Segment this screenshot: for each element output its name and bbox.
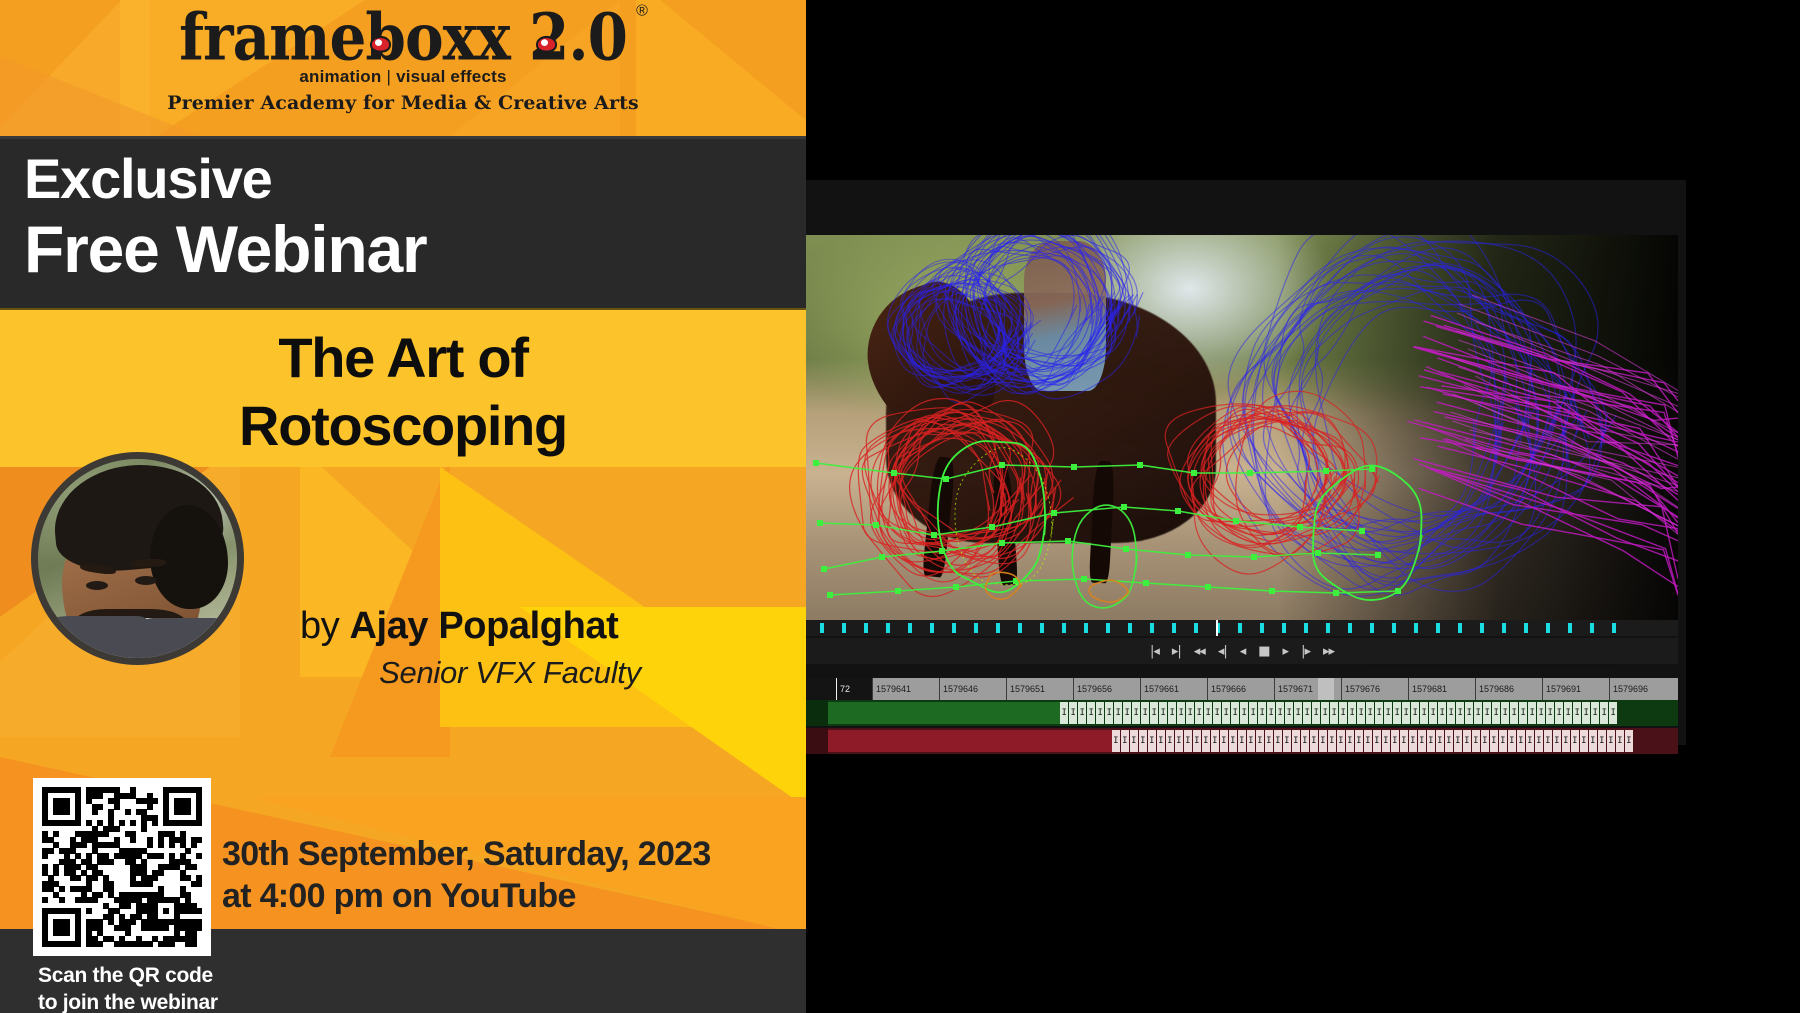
byline-prefix: by [300,605,350,647]
keyframe-cell[interactable]: I [1186,702,1194,724]
qr-caption-line2: to join the webinar [38,989,218,1013]
webinar-poster: frameboxx 2.0 ® animation|visual effects… [0,0,806,1013]
keyframe-cell[interactable]: I [1382,730,1390,752]
keyframe-cell[interactable]: I [1069,702,1077,724]
keyframe-cell[interactable]: I [1193,730,1201,752]
keyframe-cell[interactable]: I [1294,702,1302,724]
keyframe-cell[interactable]: I [1490,730,1498,752]
keyframe-cell[interactable]: I [1355,730,1363,752]
keyframe-cell[interactable]: I [1078,702,1086,724]
keyframe-cell[interactable]: I [1303,702,1311,724]
schedule-time: at 4:00 pm on YouTube [222,875,711,917]
keyframe-cell[interactable]: I [1159,702,1167,724]
keyframe-cell[interactable]: I [1247,730,1255,752]
keyframe-cell[interactable]: I [1580,730,1588,752]
keyframe-cell[interactable]: I [1274,730,1282,752]
subject-rider [1024,241,1106,391]
keyframe-cell[interactable]: I [1537,702,1545,724]
ruler-tick: 1579691 [1542,678,1581,700]
keyframe-marker[interactable] [1392,623,1396,633]
keyframe-cell[interactable]: I [1445,730,1453,752]
logo-wordmark: frameboxx 2.0 ® [179,5,627,70]
keyframe-marker[interactable] [1018,623,1022,633]
keyframe-cell[interactable]: I [1166,730,1174,752]
keyframe-marker[interactable] [842,623,846,633]
keyframe-cell[interactable]: I [1112,730,1120,752]
playhead-cursor[interactable] [1216,620,1218,636]
keyframe-cell[interactable]: I [1337,730,1345,752]
compositor-window: Object Modifiers OverBlend Mode 1.0Limit… [806,180,1686,745]
keyframe-cell[interactable]: I [1609,702,1617,724]
keyframe-cell[interactable]: I [1582,702,1590,724]
keyframe-marker[interactable] [1128,623,1132,633]
speaker-byline: by Ajay Popalghat [300,605,720,648]
keyframe-cell[interactable]: I [1501,702,1509,724]
keyframe-cell[interactable]: I [1571,730,1579,752]
keyframe-marker[interactable] [1304,623,1308,633]
ruler-tick: 1579686 [1475,678,1514,700]
keyframe-marker[interactable] [1282,623,1286,633]
ruler-tick: 1579661 [1140,678,1179,700]
schedule-block: 30th September, Saturday, 2023 at 4:00 p… [222,833,711,917]
ruler-tick: 1579641 [872,678,911,700]
ruler-tick: 1579671 [1274,678,1313,700]
keyframe-cell[interactable]: I [1591,702,1599,724]
rewind-icon[interactable]: ◂◂ [1194,645,1205,658]
ruler-tick: 1579646 [939,678,978,700]
keyframe-cell[interactable]: I [1328,730,1336,752]
keyframe-cell[interactable]: I [1330,702,1338,724]
mark-out-icon[interactable]: ▸| [1172,645,1181,658]
keyframe-cell[interactable]: I [1436,730,1444,752]
keyframe-marker[interactable] [908,623,912,633]
keyframe-marker[interactable] [1326,623,1330,633]
keyframe-cell[interactable]: I [1132,702,1140,724]
stop-icon[interactable]: ■ [1258,645,1269,658]
avatar-eye [86,581,108,590]
ruler-tick: 1579651 [1006,678,1045,700]
fast-forward-icon[interactable]: ▸▸ [1323,645,1334,658]
track-keyframes[interactable]: IIIIIIIIIIIIIIIIIIIIIIIIIIIIIIIIIIIIIIII… [1060,702,1617,724]
next-frame-icon[interactable]: |▸ [1301,645,1310,658]
keyframe-marker[interactable] [1458,623,1462,633]
keyframe-cell[interactable]: I [1231,702,1239,724]
keyframe-cell[interactable]: I [1087,702,1095,724]
keyframe-marker[interactable] [1172,623,1176,633]
keyframe-cell[interactable]: I [1573,702,1581,724]
keyframe-cell[interactable]: I [1402,702,1410,724]
logo-subtitle: Premier Academy for Media & Creative Art… [0,92,806,114]
keyframe-cell[interactable]: I [1508,730,1516,752]
eye-dot-icon [370,36,391,53]
keyframe-cell[interactable]: I [1474,702,1482,724]
keyframe-cell[interactable]: I [1240,702,1248,724]
keyframe-marker[interactable] [996,623,1000,633]
keyframe-marker[interactable] [930,623,934,633]
keyframe-bar[interactable] [806,620,1678,636]
keyframe-marker[interactable] [1590,623,1594,633]
keyframe-cell[interactable]: I [1256,730,1264,752]
keyframe-cell[interactable]: I [1429,702,1437,724]
keyframe-cell[interactable]: I [1121,730,1129,752]
timeline-ruler[interactable]: 7215796411579646157965115796561579661157… [806,678,1678,700]
keyframe-cell[interactable]: I [1384,702,1392,724]
keyframe-cell[interactable]: I [1222,702,1230,724]
keyframe-cell[interactable]: I [1456,702,1464,724]
keyframe-marker[interactable] [1480,623,1484,633]
keyframe-cell[interactable]: I [1364,730,1372,752]
keyframe-marker[interactable] [1370,623,1374,633]
keyframe-marker[interactable] [1238,623,1242,633]
keyframe-cell[interactable]: I [1400,730,1408,752]
keyframe-cell[interactable]: I [1472,730,1480,752]
eye-dot-icon [536,36,557,53]
keyframe-cell[interactable]: I [1553,730,1561,752]
qr-code-icon[interactable] [33,778,211,956]
viewer-canvas[interactable] [806,235,1678,620]
keyframe-cell[interactable]: I [1148,730,1156,752]
keyframe-cell[interactable]: I [1130,730,1138,752]
previous-frame-icon[interactable]: ◂ [1240,645,1246,658]
ruler-tick: 1579676 [1341,678,1380,700]
keyframe-cell[interactable]: I [1526,730,1534,752]
keyframe-cell[interactable]: I [1319,730,1327,752]
qr-caption: Scan the QR code to join the webinar [38,962,218,1013]
ruler-playhead[interactable] [1318,678,1334,700]
ruler-tick: 1579696 [1609,678,1648,700]
keyframe-cell[interactable]: I [1283,730,1291,752]
keyframe-cell[interactable]: I [1418,730,1426,752]
keyframe-cell[interactable]: I [1373,730,1381,752]
keyframe-marker[interactable] [1414,623,1418,633]
keyframe-cell[interactable]: I [1454,730,1462,752]
track-header[interactable] [806,728,828,754]
keyframe-cell[interactable]: I [1607,730,1615,752]
keyframe-marker[interactable] [1546,623,1550,633]
keyframe-marker[interactable] [820,623,824,633]
keyframe-cell[interactable]: I [1238,730,1246,752]
ruler-tick: 72 [836,678,850,700]
keyframe-cell[interactable]: I [1123,702,1131,724]
keyframe-cell[interactable]: I [1492,702,1500,724]
avatar-jacket [143,618,244,665]
avatar-eye [135,576,157,585]
keyframe-cell[interactable]: I [1220,730,1228,752]
keyframe-cell[interactable]: I [1346,730,1354,752]
keyframe-cell[interactable]: I [1184,730,1192,752]
ruler-tick: 1579681 [1408,678,1447,700]
keyframe-cell[interactable]: I [1211,730,1219,752]
avatar-jacket [31,616,148,665]
schedule-date: 30th September, Saturday, 2023 [222,833,711,875]
play-icon[interactable]: ▸ [1283,645,1289,658]
keyframe-cell[interactable]: I [1312,702,1320,724]
keyframe-cell[interactable]: I [1177,702,1185,724]
keyframe-cell[interactable]: I [1393,702,1401,724]
keyframe-cell[interactable]: I [1465,702,1473,724]
keyframe-cell[interactable]: I [1510,702,1518,724]
keyframe-cell[interactable]: I [1310,730,1318,752]
keyframe-cell[interactable]: I [1598,730,1606,752]
keyframe-cell[interactable]: I [1267,702,1275,724]
keyframe-marker[interactable] [1194,623,1198,633]
keyframe-cell[interactable]: I [1339,702,1347,724]
keyframe-cell[interactable]: I [1625,730,1633,752]
keyframe-marker[interactable] [1524,623,1528,633]
track-solid-range[interactable] [828,702,1060,724]
keyframe-marker[interactable] [1084,623,1088,633]
keyframe-cell[interactable]: I [1321,702,1329,724]
keyframe-cell[interactable]: I [1375,702,1383,724]
keyframe-cell[interactable]: I [1409,730,1417,752]
keyframe-cell[interactable]: I [1600,702,1608,724]
keyframe-cell[interactable]: I [1301,730,1309,752]
keyframe-cell[interactable]: I [1546,702,1554,724]
keyframe-cell[interactable]: I [1427,730,1435,752]
keyframe-cell[interactable]: I [1555,702,1563,724]
header-line-free-webinar: Free Webinar [0,211,806,287]
webinar-title-band: The Art of Rotoscoping [0,308,806,467]
keyframe-cell[interactable]: I [1229,730,1237,752]
keyframe-cell[interactable]: I [1195,702,1203,724]
keyframe-cell[interactable]: I [1168,702,1176,724]
keyframe-cell[interactable]: I [1202,730,1210,752]
keyframe-marker[interactable] [1502,623,1506,633]
keyframe-cell[interactable]: I [1411,702,1419,724]
keyframe-cell[interactable]: I [1544,730,1552,752]
keyframe-marker[interactable] [974,623,978,633]
screenshot-root: frameboxx 2.0 ® animation|visual effects… [0,0,1800,1013]
keyframe-marker[interactable] [1040,623,1044,633]
qr-caption-line1: Scan the QR code [38,962,218,989]
keyframe-cell[interactable]: I [1213,702,1221,724]
avatar [31,452,244,665]
keyframe-cell[interactable]: I [1265,730,1273,752]
keyframe-cell[interactable]: I [1366,702,1374,724]
keyframe-marker[interactable] [886,623,890,633]
plate-vignette [1277,235,1678,620]
keyframe-cell[interactable]: I [1562,730,1570,752]
keyframe-marker[interactable] [1062,623,1066,633]
webinar-header-band: Exclusive Free Webinar [0,136,806,308]
screen-share-region: Object Modifiers OverBlend Mode 1.0Limit… [806,0,1800,1013]
keyframe-cell[interactable]: I [1204,702,1212,724]
page-title-line1: The Art of [0,310,806,392]
keyframe-cell[interactable]: I [1276,702,1284,724]
keyframe-cell[interactable]: I [1564,702,1572,724]
keyframe-cell[interactable]: I [1517,730,1525,752]
keyframe-cell[interactable]: I [1438,702,1446,724]
keyframe-cell[interactable]: I [1420,702,1428,724]
keyframe-marker[interactable] [1612,623,1616,633]
keyframe-marker[interactable] [1106,623,1110,633]
keyframe-cell[interactable]: I [1391,730,1399,752]
keyframe-cell[interactable]: I [1114,702,1122,724]
speaker-name: Ajay Popalghat [350,605,619,647]
track-solid-range[interactable] [828,730,1112,752]
keyframe-marker[interactable] [1436,623,1440,633]
track-keyframes[interactable]: IIIIIIIIIIIIIIIIIIIIIIIIIIIIIIIIIIIIIIII… [1112,730,1633,752]
keyframe-cell[interactable]: I [1357,702,1365,724]
keyframe-cell[interactable]: I [1292,730,1300,752]
keyframe-cell[interactable]: I [1258,702,1266,724]
keyframe-cell[interactable]: I [1535,730,1543,752]
keyframe-marker[interactable] [1568,623,1572,633]
keyframe-cell[interactable]: I [1499,730,1507,752]
track-header[interactable] [806,700,828,726]
keyframe-cell[interactable]: I [1150,702,1158,724]
keyframe-marker[interactable] [1150,623,1154,633]
keyframe-cell[interactable]: I [1481,730,1489,752]
keyframe-cell[interactable]: I [1249,702,1257,724]
keyframe-cell[interactable]: I [1285,702,1293,724]
keyframe-cell[interactable]: I [1447,702,1455,724]
mark-in-icon[interactable]: |◂ [1150,645,1159,658]
keyframe-cell[interactable]: I [1528,702,1536,724]
keyframe-cell[interactable]: I [1589,730,1597,752]
transport-controls[interactable]: |◂▸|◂◂◂|◂■▸|▸▸▸ [806,638,1678,664]
keyframe-cell[interactable]: I [1141,702,1149,724]
page-title-line2: Rotoscoping [0,392,806,460]
keyframe-marker[interactable] [864,623,868,633]
keyframe-marker[interactable] [1260,623,1264,633]
registered-trademark-icon: ® [636,3,647,19]
keyframe-cell[interactable]: I [1175,730,1183,752]
keyframe-marker[interactable] [1348,623,1352,633]
keyframe-marker[interactable] [952,623,956,633]
keyframe-cell[interactable]: I [1157,730,1165,752]
header-line-exclusive: Exclusive [0,139,806,211]
keyframe-cell[interactable]: I [1616,730,1624,752]
keyframe-cell[interactable]: I [1060,702,1068,724]
ruler-tick: 1579656 [1073,678,1112,700]
table-row[interactable]: IIIIIIIIIIIIIIIIIIIIIIIIIIIIIIIIIIIIIIII… [806,700,1678,726]
brand-logo: frameboxx 2.0 ® animation|visual effects… [0,8,806,114]
keyframe-cell[interactable]: I [1483,702,1491,724]
table-row[interactable]: IIIIIIIIIIIIIIIIIIIIIIIIIIIIIIIIIIIIIIII… [806,728,1678,754]
step-back-icon[interactable]: ◂| [1218,645,1227,658]
speaker-role: Senior VFX Faculty [300,655,720,691]
keyframe-cell[interactable]: I [1519,702,1527,724]
keyframe-cell[interactable]: I [1105,702,1113,724]
keyframe-cell[interactable]: I [1139,730,1147,752]
logo-band: frameboxx 2.0 ® animation|visual effects… [0,0,806,136]
keyframe-cell[interactable]: I [1463,730,1471,752]
keyframe-cell[interactable]: I [1096,702,1104,724]
ruler-tick: 1579666 [1207,678,1246,700]
logo-wordmark-text: frameboxx 2.0 [179,0,627,75]
keyframe-cell[interactable]: I [1348,702,1356,724]
